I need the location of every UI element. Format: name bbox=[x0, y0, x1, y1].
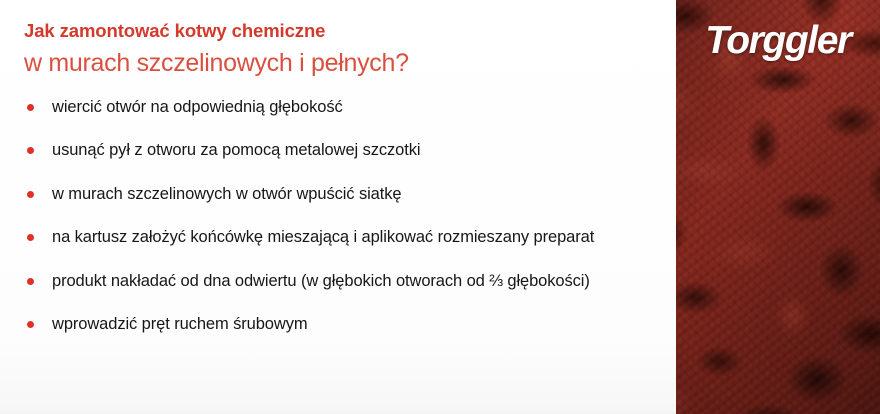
instruction-steps-list: wiercić otwór na odpowiednią głębokość u… bbox=[24, 96, 654, 337]
list-item: wiercić otwór na odpowiednią głębokość bbox=[24, 96, 654, 119]
bullet-dot-icon bbox=[27, 278, 34, 285]
list-item: na kartusz założyć końcówkę mieszającą i… bbox=[24, 226, 654, 249]
step-text: produkt nakładać od dna odwiertu (w głęb… bbox=[52, 270, 654, 293]
step-text: usunąć pył z otworu za pomocą metalowej … bbox=[52, 139, 654, 162]
step-text: na kartusz założyć końcówkę mieszającą i… bbox=[52, 226, 654, 249]
bullet-dot-icon bbox=[27, 147, 34, 154]
bullet-dot-icon bbox=[27, 321, 34, 328]
step-text: wprowadzić pręt ruchem śrubowym bbox=[52, 313, 654, 336]
bullet-dot-icon bbox=[27, 191, 34, 198]
bullet-dot-icon bbox=[27, 104, 34, 111]
instruction-slide: Jak zamontować kotwy chemiczne w murach … bbox=[0, 0, 880, 414]
brand-panel: Torggler bbox=[676, 0, 880, 414]
step-text: w murach szczelinowych w otwór wpuścić s… bbox=[52, 183, 654, 206]
headline-secondary: w murach szczelinowych i pełnych? bbox=[24, 47, 654, 80]
headline-primary: Jak zamontować kotwy chemiczne bbox=[24, 19, 654, 42]
list-item: produkt nakładać od dna odwiertu (w głęb… bbox=[24, 270, 654, 293]
list-item: wprowadzić pręt ruchem śrubowym bbox=[24, 313, 654, 336]
step-text: wiercić otwór na odpowiednią głębokość bbox=[52, 96, 654, 119]
headline-block: Jak zamontować kotwy chemiczne w murach … bbox=[24, 19, 654, 80]
torggler-logo: Torggler bbox=[676, 21, 880, 60]
bullet-dot-icon bbox=[27, 234, 34, 241]
list-item: usunąć pył z otworu za pomocą metalowej … bbox=[24, 139, 654, 162]
content-panel: Jak zamontować kotwy chemiczne w murach … bbox=[0, 0, 676, 414]
list-item: w murach szczelinowych w otwór wpuścić s… bbox=[24, 183, 654, 206]
texture-vignette-overlay bbox=[676, 0, 880, 414]
